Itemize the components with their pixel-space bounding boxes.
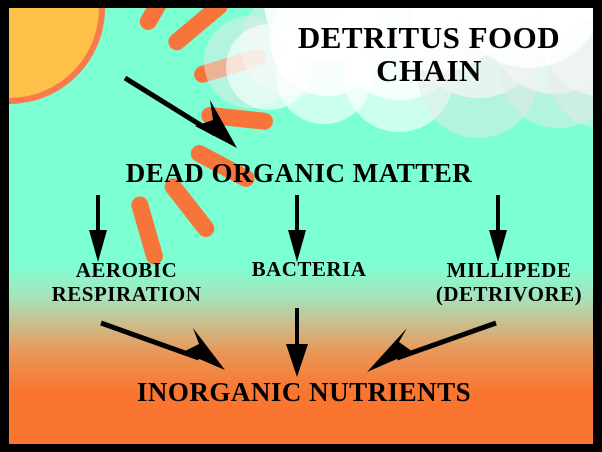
arrow-aerobic-to-inorganic (101, 323, 225, 370)
diagram-canvas: DETRITUS FOOD CHAIN DEAD ORGANIC MATTER … (0, 0, 602, 452)
node-aerobic-respiration: AEROBIC RESPIRATION (19, 259, 234, 306)
arrow-bacteria-to-inorganic (286, 308, 308, 377)
page-title: DETRITUS FOOD CHAIN (264, 22, 593, 87)
arrow-sun-to-dead-organic-matter (125, 78, 237, 148)
arrow-dom-to-bacteria (288, 195, 306, 262)
node-dead-organic-matter: DEAD ORGANIC MATTER (69, 160, 529, 188)
diagram-inner-canvas: DETRITUS FOOD CHAIN DEAD ORGANIC MATTER … (9, 8, 593, 444)
arrow-dom-to-millipede (489, 195, 507, 262)
node-millipede: MILLIPEDE (DETRIVORE) (409, 259, 593, 306)
arrow-millipede-to-inorganic (367, 323, 496, 372)
node-inorganic-nutrients: INORGANIC NUTRIENTS (69, 379, 539, 407)
node-bacteria: BACTERIA (229, 259, 389, 280)
arrow-dom-to-aerobic-respiration (89, 195, 107, 262)
